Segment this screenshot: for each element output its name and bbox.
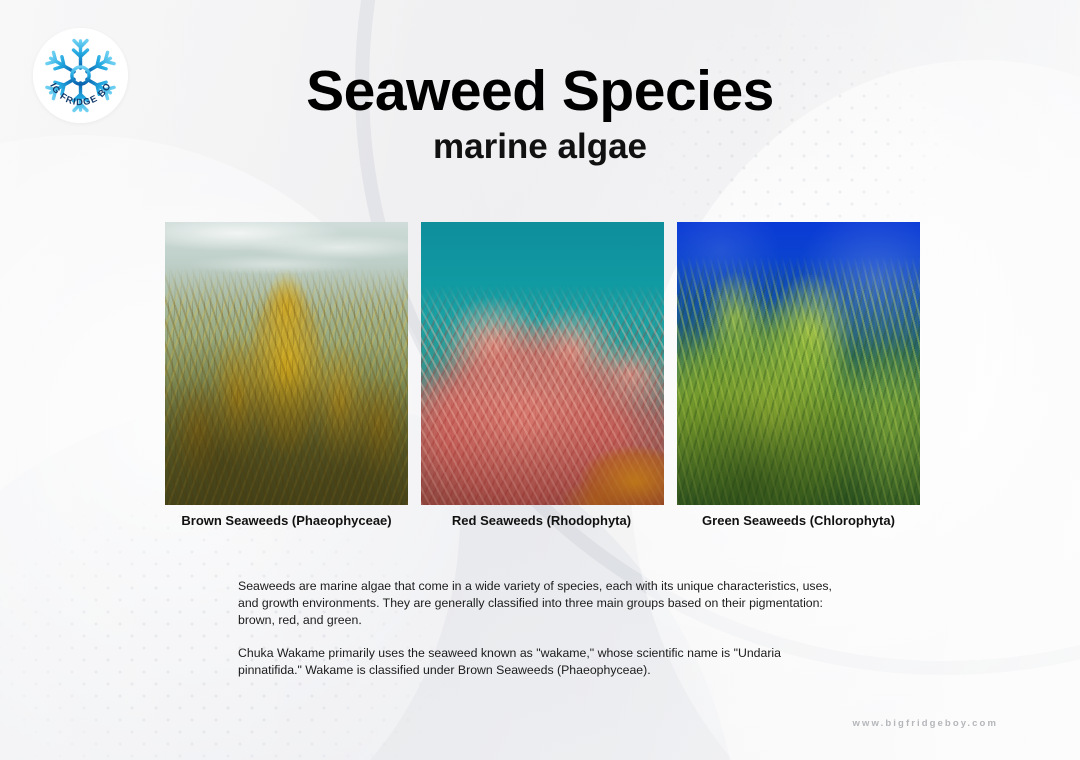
species-caption-brown: Brown Seaweeds (Phaeophyceae) [165,513,408,528]
brown-seaweed-photo [165,222,408,505]
species-card-brown[interactable]: Brown Seaweeds (Phaeophyceae) [165,222,408,528]
green-seaweed-photo [677,222,920,505]
species-card-red[interactable]: Red Seaweeds (Rhodophyta) [421,222,664,528]
slide-canvas: BIG FRIDGE BOY Seaweed Species marine al… [0,0,1080,760]
species-caption-green: Green Seaweeds (Chlorophyta) [677,513,920,528]
footer-website[interactable]: www.bigfridgeboy.com [853,718,998,729]
page-title: Seaweed Species [0,62,1080,122]
description-paragraph-1: Seaweeds are marine algae that come in a… [238,578,846,629]
species-caption-red: Red Seaweeds (Rhodophyta) [419,513,664,528]
red-seaweed-photo [421,222,664,505]
species-card-row: Brown Seaweeds (Phaeophyceae) Red Seawee… [165,222,919,528]
species-card-green[interactable]: Green Seaweeds (Chlorophyta) [677,222,920,528]
page-subtitle: marine algae [0,128,1080,167]
description-block: Seaweeds are marine algae that come in a… [238,578,846,679]
description-paragraph-2: Chuka Wakame primarily uses the seaweed … [238,645,846,679]
